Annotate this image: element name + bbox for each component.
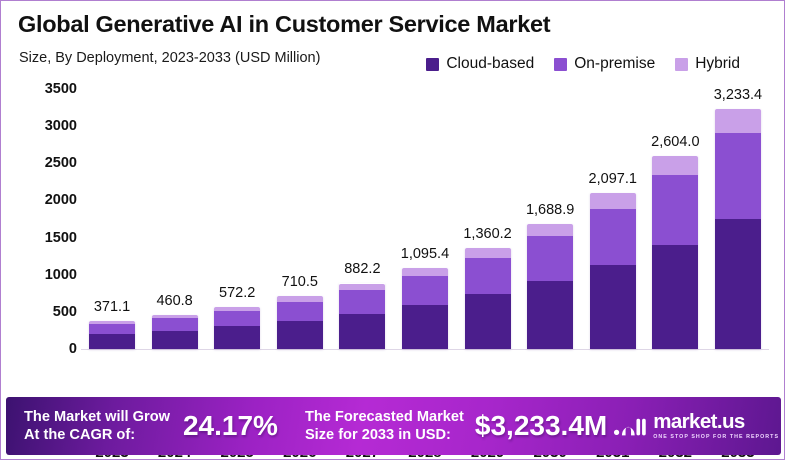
- bar-segment-on-premise[interactable]: [214, 311, 260, 326]
- market-infographic: Global Generative AI in Customer Service…: [0, 0, 785, 460]
- chart-subtitle: Size, By Deployment, 2023-2033 (USD Mill…: [19, 50, 320, 66]
- forecast-size-caption: The Forecasted Market Size for 2033 in U…: [305, 408, 464, 444]
- bar-segment-cloud-based[interactable]: [465, 294, 511, 349]
- legend-item-on-premise[interactable]: On-premise: [554, 55, 655, 73]
- legend-swatch-icon: [426, 58, 439, 71]
- logo-tagline: ONE STOP SHOP FOR THE REPORTS: [653, 435, 779, 440]
- bar-column[interactable]: 371.1: [81, 89, 143, 349]
- bar-segment-cloud-based[interactable]: [277, 321, 323, 350]
- bar-value-label: 1,360.2: [463, 226, 511, 242]
- bar-segment-on-premise[interactable]: [277, 302, 323, 321]
- y-axis-tick: 3500: [45, 81, 77, 97]
- bar-stack[interactable]: [152, 315, 198, 349]
- bar-segment-cloud-based[interactable]: [89, 334, 135, 349]
- y-axis-tick: 2500: [45, 155, 77, 171]
- market-us-logo-mark: [613, 413, 647, 439]
- cagr-caption: The Market will Grow At the CAGR of:: [24, 408, 170, 444]
- bar-segment-on-premise[interactable]: [465, 258, 511, 294]
- bar-value-label: 2,604.0: [651, 134, 699, 150]
- bar-stack[interactable]: [527, 224, 573, 349]
- bar-stack[interactable]: [339, 283, 385, 349]
- bar-stack[interactable]: [277, 296, 323, 349]
- bar-value-label: 1,095.4: [401, 246, 449, 262]
- bar-column[interactable]: 2,097.1: [582, 89, 644, 349]
- bar-segment-cloud-based[interactable]: [152, 331, 198, 349]
- y-axis-tick: 0: [69, 341, 77, 357]
- axis-baseline: [81, 349, 769, 350]
- legend-item-hybrid[interactable]: Hybrid: [675, 55, 740, 73]
- bar-column[interactable]: 1,095.4: [394, 89, 456, 349]
- bar-stack[interactable]: [465, 248, 511, 349]
- market-us-logo[interactable]: market.us ONE STOP SHOP FOR THE REPORTS: [613, 412, 779, 441]
- page-title: Global Generative AI in Customer Service…: [18, 11, 550, 38]
- bar-value-label: 572.2: [219, 285, 255, 301]
- y-axis-tick: 500: [53, 304, 77, 320]
- bar-column[interactable]: 572.2: [206, 89, 268, 349]
- bar-segment-hybrid[interactable]: [465, 248, 511, 258]
- market-us-logo-text: market.us ONE STOP SHOP FOR THE REPORTS: [653, 412, 779, 441]
- summary-footer: The Market will Grow At the CAGR of: 24.…: [6, 397, 781, 455]
- cagr-caption-line1: The Market will Grow: [24, 409, 170, 425]
- y-axis-tick: 1500: [45, 230, 77, 246]
- bar-stack[interactable]: [652, 156, 698, 349]
- legend-item-label: Cloud-based: [446, 55, 534, 73]
- bar-value-label: 882.2: [344, 261, 380, 277]
- bar-segment-hybrid[interactable]: [590, 193, 636, 209]
- bar-value-label: 710.5: [282, 274, 318, 290]
- chart-header: Global Generative AI in Customer Service…: [1, 1, 785, 89]
- bar-column[interactable]: 1,688.9: [519, 89, 581, 349]
- bar-segment-on-premise[interactable]: [89, 324, 135, 334]
- cagr-block: The Market will Grow At the CAGR of: 24.…: [24, 408, 278, 444]
- bar-segment-on-premise[interactable]: [652, 175, 698, 245]
- bar-stack[interactable]: [715, 109, 761, 349]
- bar-segment-on-premise[interactable]: [402, 276, 448, 305]
- legend-item-label: On-premise: [574, 55, 655, 73]
- bar-column[interactable]: 460.8: [144, 89, 206, 349]
- size-caption-line1: The Forecasted Market: [305, 409, 464, 425]
- cagr-value: 24.17%: [183, 410, 278, 442]
- bar-column[interactable]: 882.2: [331, 89, 393, 349]
- bar-segment-hybrid[interactable]: [652, 156, 698, 175]
- bar-stack[interactable]: [89, 321, 135, 349]
- bar-value-label: 3,233.4: [714, 87, 762, 103]
- bar-stack[interactable]: [590, 193, 636, 349]
- bar-column[interactable]: 3,233.4: [707, 89, 769, 349]
- bar-column[interactable]: 2,604.0: [644, 89, 706, 349]
- bar-segment-hybrid[interactable]: [715, 109, 761, 133]
- bar-segment-cloud-based[interactable]: [214, 326, 260, 349]
- bar-value-label: 2,097.1: [589, 171, 637, 187]
- bar-value-label: 371.1: [94, 299, 130, 315]
- bar-segment-hybrid[interactable]: [527, 224, 573, 237]
- logo-wordmark: market.us: [653, 412, 779, 433]
- y-axis-tick: 2000: [45, 192, 77, 208]
- size-caption-line2: Size for 2033 in USD:: [305, 427, 451, 443]
- chart-plot-area: 3500300025002000150010005000 371.1460.85…: [1, 89, 785, 389]
- forecast-size-block: The Forecasted Market Size for 2033 in U…: [305, 408, 607, 444]
- y-axis-tick: 3000: [45, 118, 77, 134]
- bar-segment-on-premise[interactable]: [590, 209, 636, 265]
- y-axis: 3500300025002000150010005000: [19, 89, 77, 353]
- bar-segment-hybrid[interactable]: [402, 268, 448, 276]
- bar-value-label: 1,688.9: [526, 202, 574, 218]
- bar-segment-cloud-based[interactable]: [715, 219, 761, 349]
- legend-swatch-icon: [554, 58, 567, 71]
- legend-item-cloud-based[interactable]: Cloud-based: [426, 55, 534, 73]
- bar-segment-on-premise[interactable]: [715, 133, 761, 219]
- forecast-size-value: $3,233.4M: [475, 410, 607, 442]
- bar-stack[interactable]: [214, 307, 260, 350]
- bar-value-label: 460.8: [156, 293, 192, 309]
- bar-segment-cloud-based[interactable]: [527, 281, 573, 349]
- legend-item-label: Hybrid: [695, 55, 740, 73]
- cagr-caption-line2: At the CAGR of:: [24, 427, 135, 443]
- bar-segment-cloud-based[interactable]: [402, 305, 448, 349]
- bar-segment-on-premise[interactable]: [339, 290, 385, 314]
- bar-segment-cloud-based[interactable]: [339, 314, 385, 349]
- legend-swatch-icon: [675, 58, 688, 71]
- bar-group: 371.1460.8572.2710.5882.21,095.41,360.21…: [81, 89, 769, 349]
- bar-column[interactable]: 710.5: [269, 89, 331, 349]
- bar-segment-cloud-based[interactable]: [590, 265, 636, 349]
- bar-stack[interactable]: [402, 268, 448, 349]
- bar-column[interactable]: 1,360.2: [457, 89, 519, 349]
- bar-segment-on-premise[interactable]: [527, 236, 573, 281]
- y-axis-tick: 1000: [45, 267, 77, 283]
- bar-segment-cloud-based[interactable]: [652, 245, 698, 349]
- bar-segment-on-premise[interactable]: [152, 318, 198, 330]
- chart-legend: Cloud-basedOn-premiseHybrid: [426, 55, 740, 73]
